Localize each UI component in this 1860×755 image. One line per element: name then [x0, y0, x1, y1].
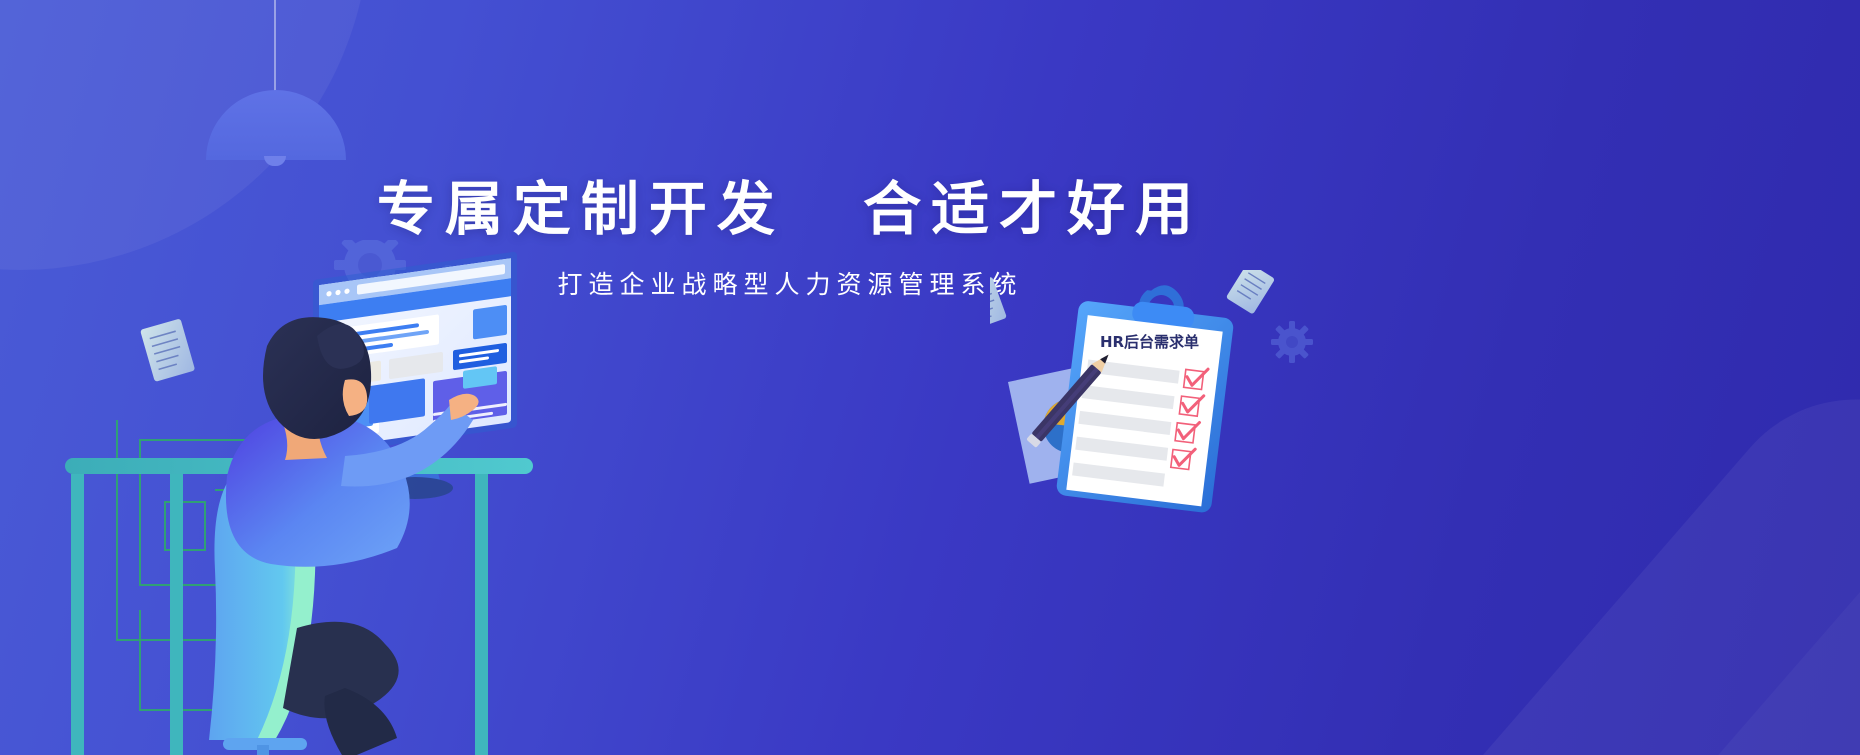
lamp-cord	[274, 0, 276, 92]
illustration-clipboard-checklist: HR后台需求单	[990, 270, 1320, 520]
background-diagonal-bar-1	[1252, 342, 1860, 755]
floating-document-icon-b	[1226, 270, 1275, 315]
floating-document-icon	[140, 318, 195, 381]
desk-leg-left	[71, 474, 84, 755]
hero-banner: 专属定制开发 合适才好用 打造企业战略型人力资源管理系统	[0, 0, 1860, 755]
chair-post	[257, 745, 269, 755]
floating-document-icon-a	[990, 276, 1007, 329]
gear-icon-decorative	[1271, 321, 1313, 363]
banner-title-part-2: 合适才好用	[863, 177, 1203, 242]
illustration-person-at-desk	[45, 240, 605, 755]
banner-title-part-1: 专属定制开发	[377, 177, 785, 242]
clipboard-title: HR后台需求单	[1100, 333, 1199, 351]
desk-leg-mid	[170, 474, 183, 755]
desk-leg-right	[475, 474, 488, 755]
